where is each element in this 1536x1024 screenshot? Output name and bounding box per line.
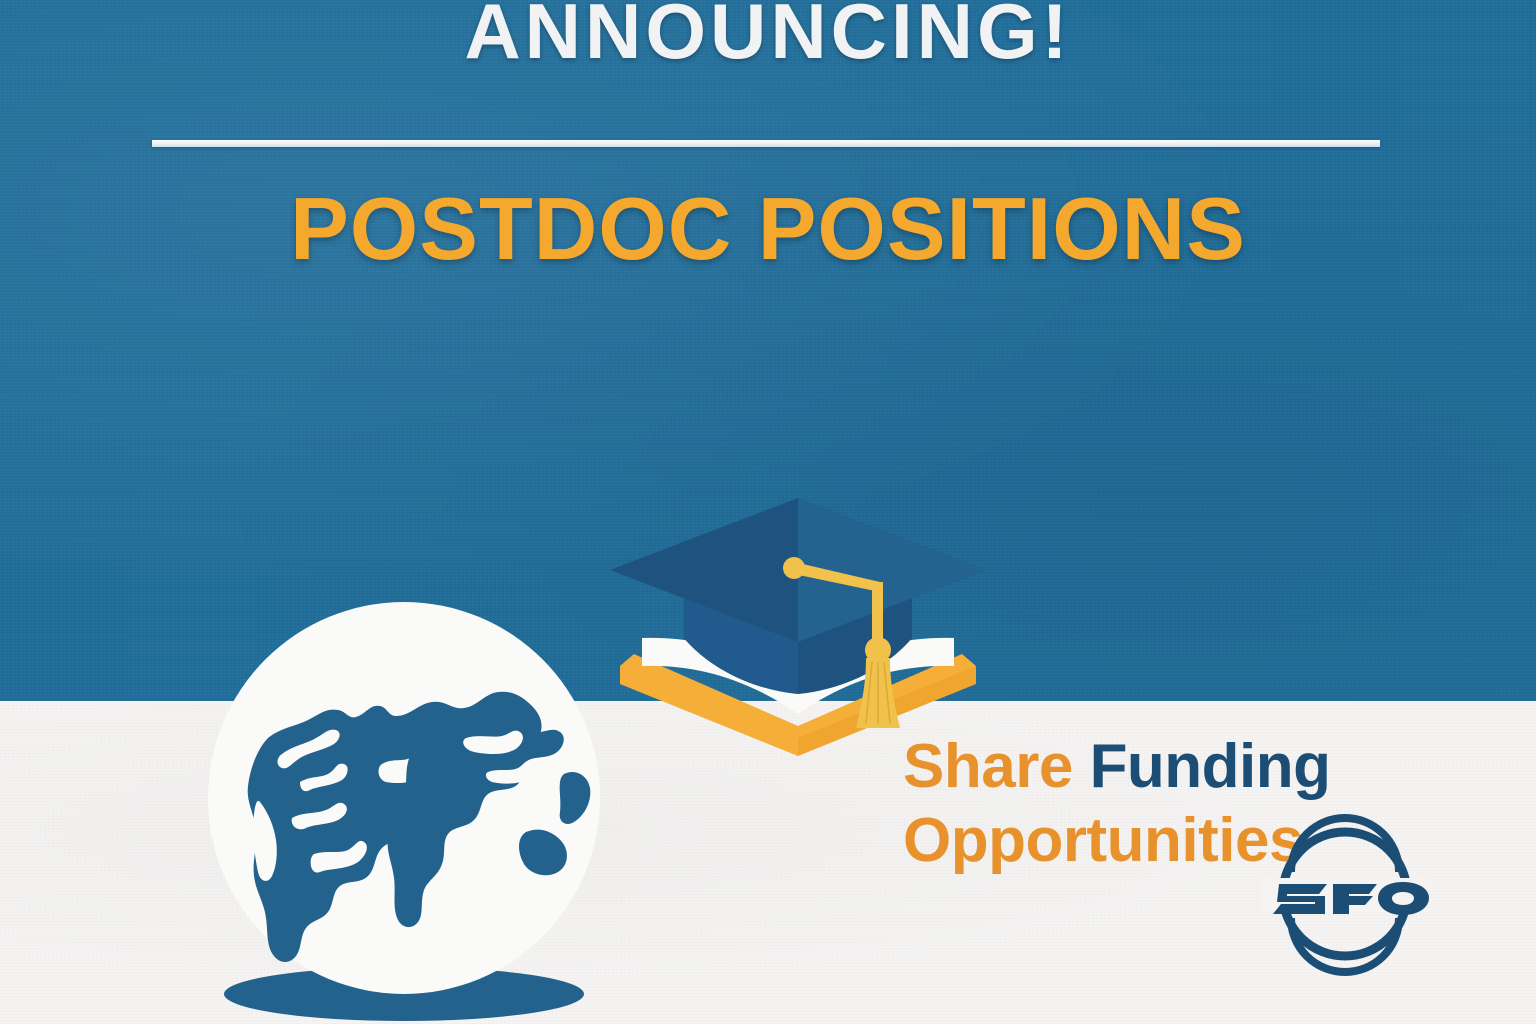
logo-line-one: Share Funding — [903, 736, 1331, 798]
logo-word-opportunities: Opportunities — [903, 806, 1303, 875]
sfo-logo-lockup: Share Funding Opportunities — [903, 734, 1443, 964]
logo-word-funding: Funding — [1090, 732, 1331, 801]
logo-line-two: Opportunities — [903, 810, 1303, 872]
horizontal-divider — [152, 140, 1380, 147]
announcement-poster: ANNOUNCING! POSTDOC POSITIONS — [0, 0, 1536, 1024]
announcing-headline: ANNOUNCING! — [0, 0, 1536, 77]
globe-icon — [196, 586, 636, 1024]
page-title: POSTDOC POSITIONS — [0, 178, 1536, 280]
graduation-cap-icon — [608, 488, 996, 758]
sfo-circle-logo — [1261, 826, 1429, 962]
logo-word-share: Share — [903, 732, 1073, 801]
